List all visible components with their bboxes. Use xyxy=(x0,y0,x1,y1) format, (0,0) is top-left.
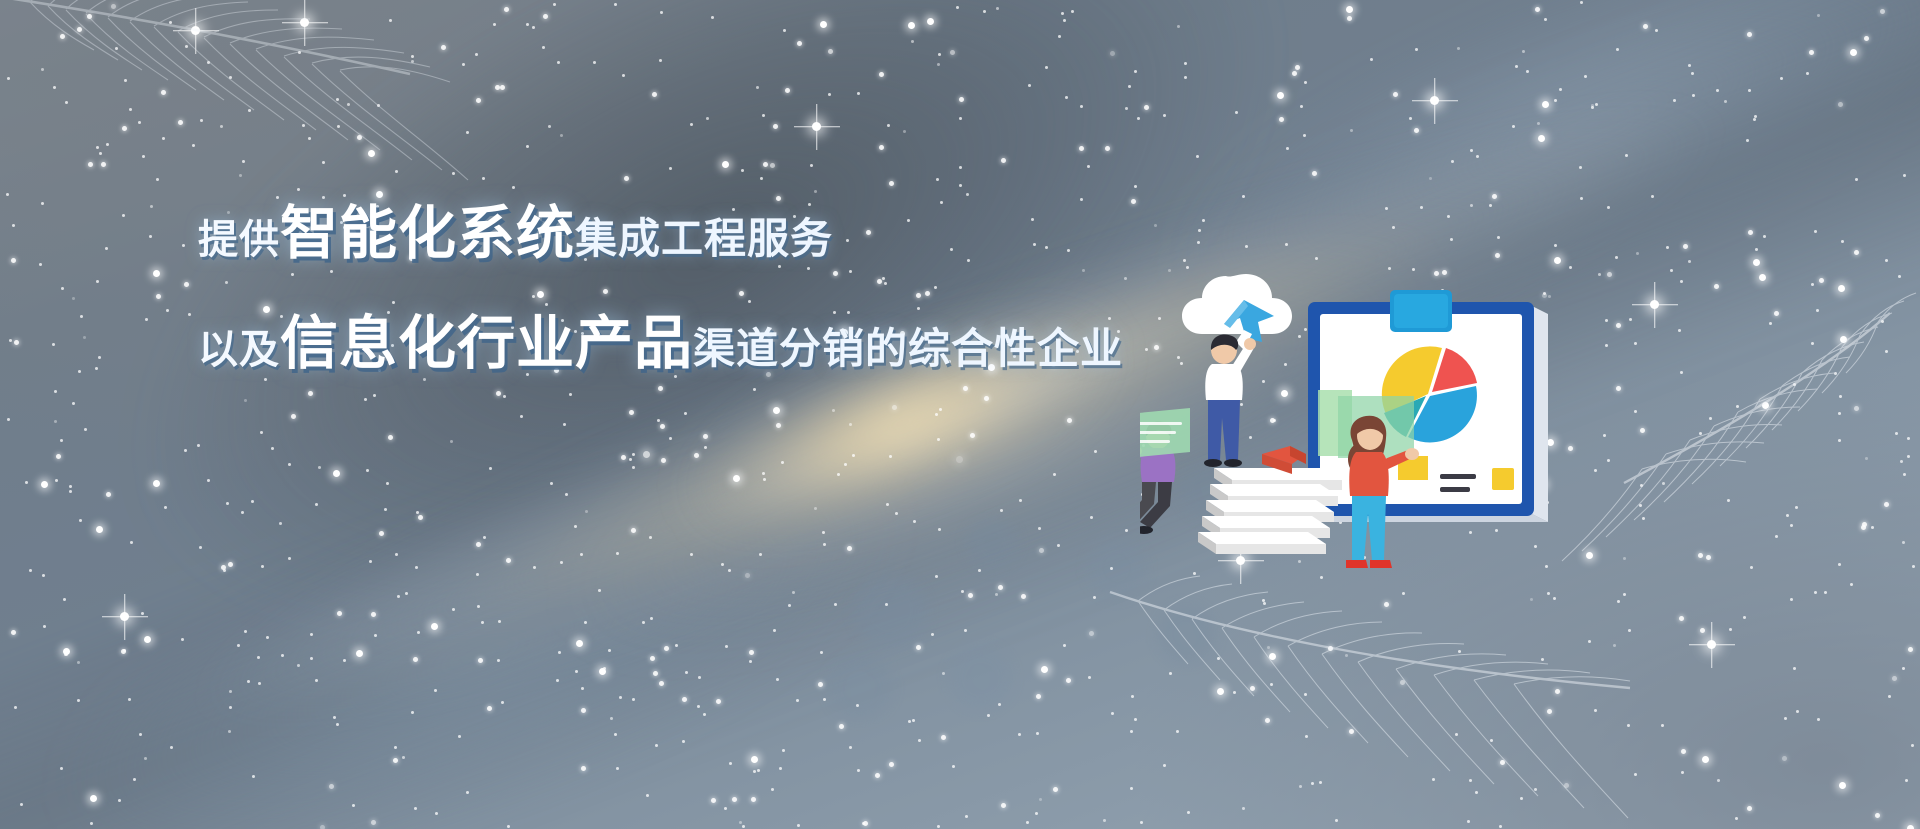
person-standing-on-papers xyxy=(1204,330,1256,467)
headline: 提供 智能化系统 集成工程服务 以及 信息化行业产品 渠道分销的综合性企业 xyxy=(198,186,1123,406)
headline-line2-part3: 渠道分销的综合性企业 xyxy=(693,315,1123,376)
headline-line-2: 以及 信息化行业产品 渠道分销的综合性企业 xyxy=(198,296,1123,380)
green-speech-panel xyxy=(1140,408,1190,458)
headline-line2-part1: 以及 xyxy=(198,317,280,375)
cloud-icon xyxy=(1182,274,1292,334)
headline-line1-part2: 智能化系统 xyxy=(280,186,575,270)
headline-line1-part1: 提供 xyxy=(198,207,280,265)
headline-line1-part3: 集成工程服务 xyxy=(575,205,833,266)
paper-stack xyxy=(1198,468,1342,554)
hero-banner: 提供 智能化系统 集成工程服务 以及 信息化行业产品 渠道分销的综合性企业 xyxy=(0,0,1920,829)
feather-right xyxy=(1560,285,1920,545)
feather-top-left xyxy=(0,0,470,200)
feather-bottom-right xyxy=(1090,570,1650,820)
headline-line2-part2: 信息化行业产品 xyxy=(280,296,693,380)
headline-line-1: 提供 智能化系统 集成工程服务 xyxy=(198,186,1123,270)
business-analytics-illustration xyxy=(1140,268,1580,588)
